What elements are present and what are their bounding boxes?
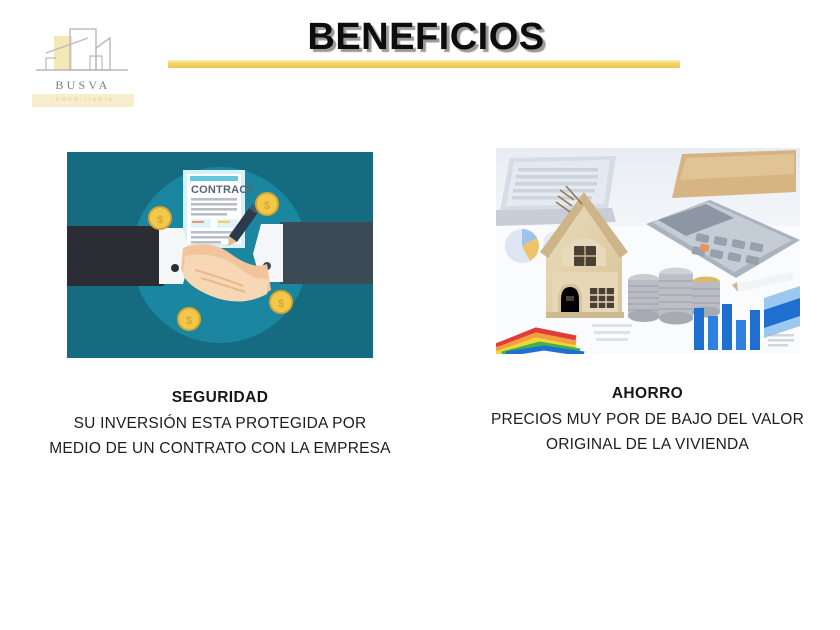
dollar-coin: $ bbox=[178, 308, 200, 330]
slide-header: BUSVA INMOBILIARIA BENEFICIOS bbox=[0, 0, 840, 120]
wood-plank-graphic bbox=[672, 150, 796, 198]
paper-slip-graphic bbox=[592, 324, 632, 341]
handshake-contract-illustration: CONTRACT bbox=[67, 152, 373, 358]
svg-text:$: $ bbox=[186, 315, 192, 327]
benefit-card-seguridad: CONTRACT bbox=[40, 148, 400, 461]
dollar-coin: $ bbox=[149, 207, 171, 229]
benefit-caption-seguridad: SEGURIDAD SU INVERSIÓN ESTA PROTEGIDA PO… bbox=[40, 386, 400, 461]
model-house-coins-photo bbox=[496, 148, 800, 354]
brand-name: BUSVA bbox=[28, 78, 138, 93]
dollar-coin: $ bbox=[270, 291, 292, 313]
page-title: BENEFICIOS bbox=[170, 16, 682, 59]
benefit-caption-ahorro: AHORRO PRECIOS MUY POR DE BAJO DEL VALOR… bbox=[470, 382, 825, 457]
building-outline-icon bbox=[28, 26, 138, 80]
brand-tagline: INMOBILIARIA bbox=[32, 94, 134, 107]
benefit-body: SU INVERSIÓN ESTA PROTEGIDA POR MEDIO DE… bbox=[40, 411, 400, 461]
svg-text:$: $ bbox=[264, 200, 270, 212]
benefit-body: PRECIOS MUY POR DE BAJO DEL VALOR ORIGIN… bbox=[470, 407, 825, 457]
benefit-heading: SEGURIDAD bbox=[40, 386, 400, 409]
svg-text:$: $ bbox=[157, 214, 163, 226]
benefit-heading: AHORRO bbox=[470, 382, 825, 405]
dollar-coin: $ bbox=[256, 193, 278, 215]
svg-text:CONTRACT: CONTRACT bbox=[191, 184, 254, 196]
benefit-card-ahorro: AHORRO PRECIOS MUY POR DE BAJO DEL VALOR… bbox=[470, 148, 825, 457]
brand-logo: BUSVA INMOBILIARIA bbox=[28, 26, 138, 108]
title-underline-rule bbox=[168, 60, 680, 68]
svg-text:$: $ bbox=[278, 298, 284, 310]
contract-document: CONTRACT bbox=[183, 170, 254, 248]
